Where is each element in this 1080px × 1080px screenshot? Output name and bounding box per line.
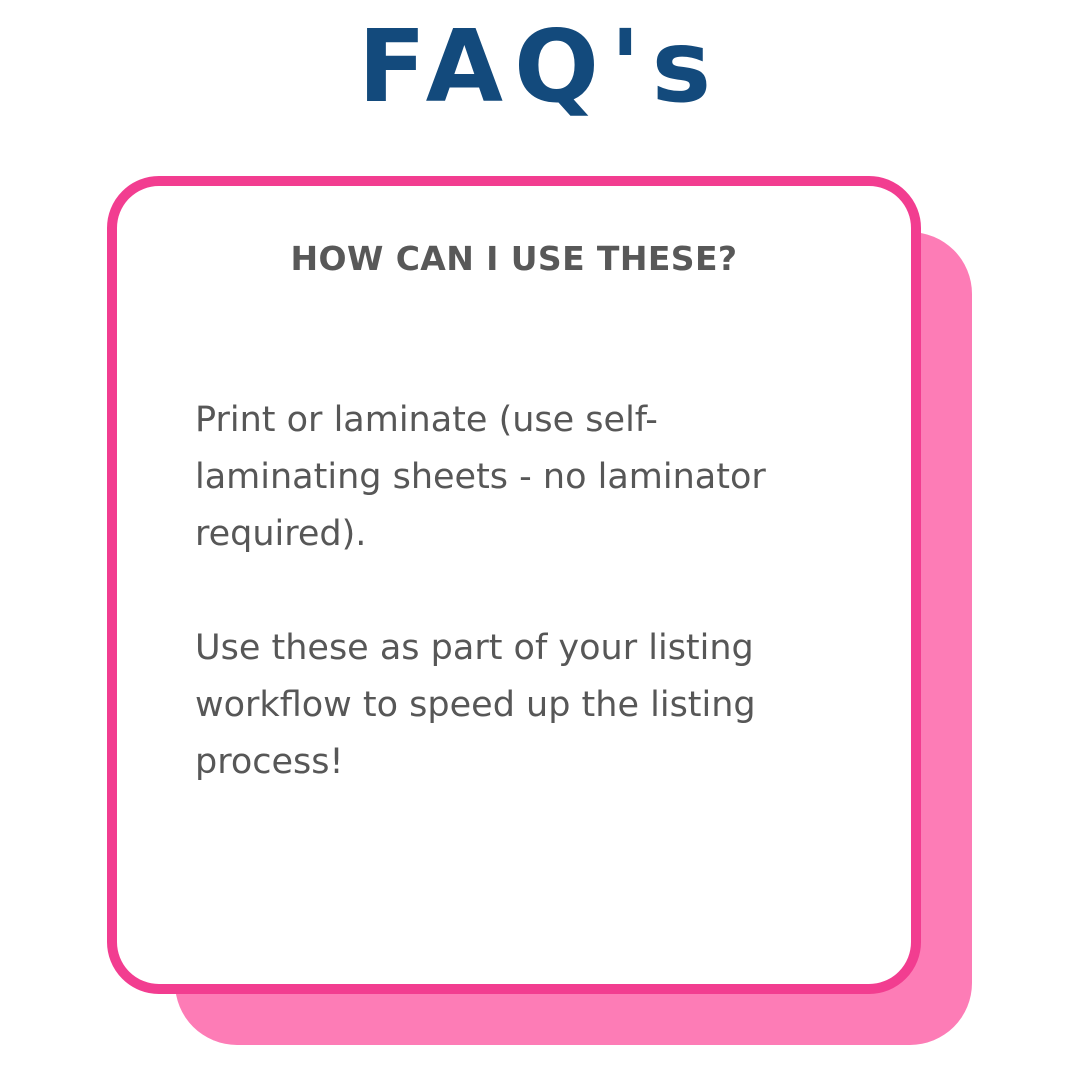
- faq-card-heading: HOW CAN I USE THESE?: [187, 238, 841, 280]
- faq-slide: FAQ's HOW CAN I USE THESE? Print or lami…: [0, 0, 1080, 1080]
- page-title: FAQ's: [0, 8, 1080, 126]
- faq-card-body: Print or laminate (use self-laminating s…: [187, 392, 841, 791]
- faq-paragraph-1: Print or laminate (use self-laminating s…: [195, 392, 799, 563]
- faq-card: HOW CAN I USE THESE? Print or laminate (…: [107, 176, 921, 994]
- faq-paragraph-2: Use these as part of your listing workfl…: [195, 620, 799, 791]
- faq-card-content: HOW CAN I USE THESE? Print or laminate (…: [117, 186, 911, 984]
